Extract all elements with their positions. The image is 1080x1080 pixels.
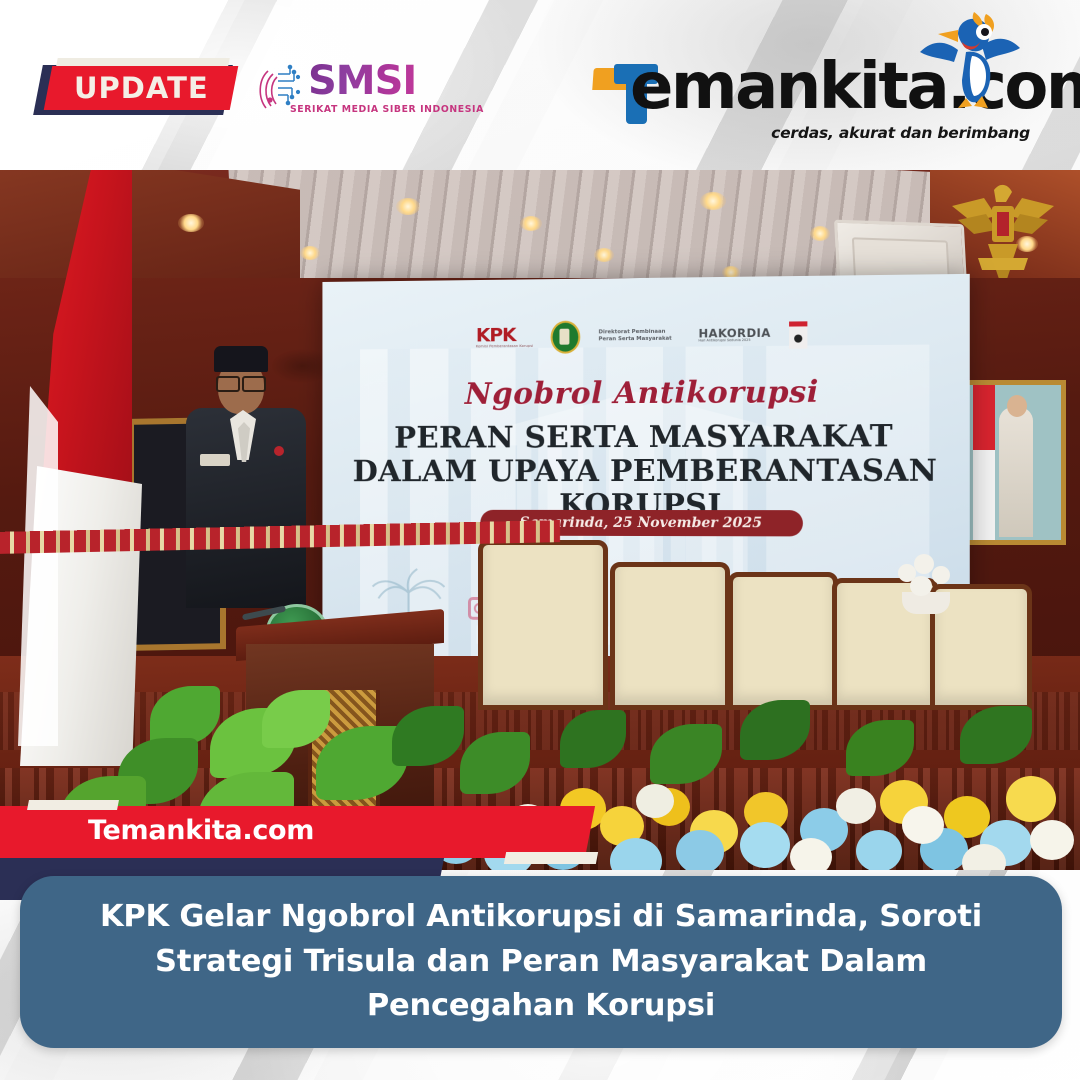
smsi-logo: SMSI SERIKAT MEDIA SIBER INDONESIA — [252, 60, 427, 122]
update-badge-body: UPDATE — [44, 66, 239, 110]
headline-text: KPK Gelar Ngobrol Antikorupsi di Samarin… — [20, 895, 1062, 1029]
foliage-leaf — [650, 724, 722, 784]
foliage-leaf — [846, 720, 914, 776]
flower-white — [836, 788, 876, 824]
source-banner-tab-left — [27, 800, 119, 810]
speaker-name-badge — [200, 454, 230, 466]
news-photo: KPKKomisi Pemberantasan Korupsi Direktor… — [0, 170, 1080, 870]
foliage-leaf — [460, 732, 530, 794]
update-badge-label: UPDATE — [74, 71, 209, 105]
source-banner-tab-right — [504, 852, 598, 864]
slide-logo-row: KPKKomisi Pemberantasan Korupsi Direktor… — [322, 313, 969, 359]
foliage-leaf — [740, 700, 810, 760]
ceiling-light — [594, 248, 614, 262]
headline-card: KPK Gelar Ngobrol Antikorupsi di Samarin… — [20, 876, 1062, 1048]
flower-blue — [856, 830, 902, 870]
vase-bowl — [902, 592, 950, 614]
table-flower-vase — [888, 548, 962, 614]
poster-header: UPDATE SMSI — [0, 0, 1080, 168]
hakordia-sub: Hari Antikorupsi Sedunia 2025 — [699, 339, 771, 343]
flower-yellow — [1006, 776, 1056, 822]
source-banner: Temankita.com — [0, 806, 620, 864]
flower-white — [902, 806, 944, 844]
flower-white — [636, 784, 674, 818]
speaker-peci-cap — [214, 346, 268, 372]
flower-white — [1030, 820, 1074, 860]
speaker-lapel-pin — [274, 446, 284, 456]
vase-bloom — [932, 566, 950, 584]
temankita-logo: emankita.com cerdas, akurat dan berimban… — [590, 28, 1036, 140]
kpk-logo-icon: KPKKomisi Pemberantasan Korupsi — [476, 326, 533, 349]
smsi-subtitle: SERIKAT MEDIA SIBER INDONESIA — [290, 104, 484, 115]
slide-headline-line1: PERAN SERTA MASYARAKAT — [394, 419, 893, 456]
foliage-leaf — [262, 690, 330, 748]
foliage-leaf — [150, 686, 220, 746]
source-banner-label: Temankita.com — [88, 815, 314, 846]
portrait-head — [1007, 395, 1027, 417]
speaker-glasses — [216, 376, 266, 389]
ceiling-light — [520, 216, 542, 231]
garuda-pancasila-icon — [944, 176, 1062, 284]
slide-script-title: Ngobrol Antikorupsi — [322, 374, 969, 413]
flower-white — [790, 838, 832, 870]
hakordia-logo-icon: HAKORDIAHari Antikorupsi Sedunia 2025 — [699, 327, 771, 343]
news-poster: UPDATE SMSI — [0, 0, 1080, 1080]
green-government-emblem-icon — [551, 320, 581, 353]
foliage-leaf — [960, 706, 1032, 764]
portrait-figure — [999, 407, 1033, 537]
flower-blue — [740, 822, 790, 868]
portrait-flag — [973, 385, 995, 540]
foliage-leaf — [392, 706, 464, 766]
ceiling-light — [810, 226, 830, 241]
vase-bloom — [910, 576, 932, 596]
slide-headline: PERAN SERTA MASYARAKAT DALAM UPAYA PEMBE… — [322, 420, 969, 524]
smsi-wordmark: SMSI — [308, 58, 416, 104]
indonesian-flag-icon — [18, 170, 138, 766]
ceiling-light — [396, 198, 420, 215]
flower-blue — [676, 830, 724, 870]
ceiling-light — [300, 246, 320, 260]
vase-bloom — [914, 554, 934, 574]
red-box-logo-icon — [789, 321, 807, 348]
brand-tagline: cerdas, akurat dan berimbang — [771, 124, 1030, 142]
update-badge: UPDATE — [38, 58, 228, 112]
kpk-logo-sub: Komisi Pemberantasan Korupsi — [476, 345, 533, 349]
directorate-text-logo: Direktorat Pembinaan Peran Serta Masyara… — [599, 328, 681, 343]
blue-bird-mascot-icon — [914, 8, 1026, 112]
foliage-leaf — [560, 710, 626, 768]
ceiling-light — [178, 214, 204, 232]
ceiling-light — [700, 192, 726, 210]
